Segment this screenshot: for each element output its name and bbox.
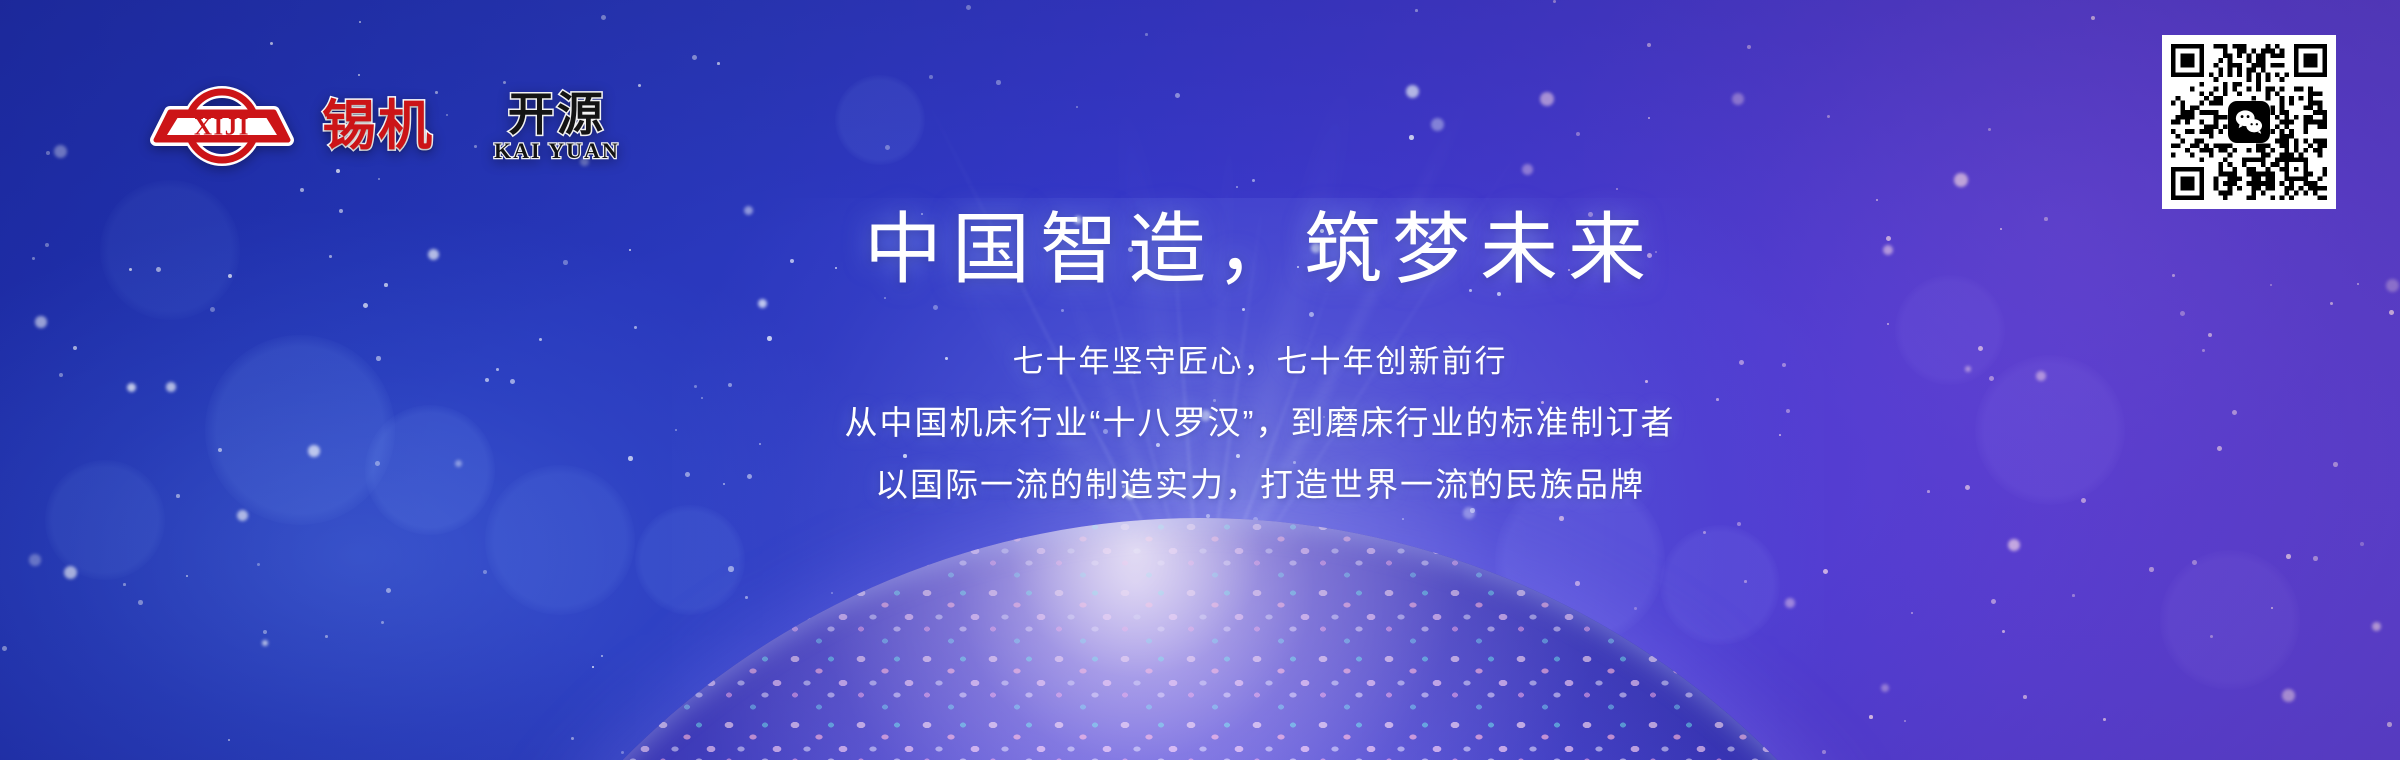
wechat-qr-code[interactable] [2162, 35, 2336, 209]
sub-brand-cn: 开源 [494, 91, 620, 137]
subtitle-line-3: 以国际一流的制造实力，打造世界一流的民族品牌 [120, 468, 2400, 501]
subtitle-line-1: 七十年坚守匠心，七十年创新前行 [120, 346, 2400, 377]
brand-name-cn: 锡机 [322, 99, 434, 153]
xiji-badge-icon: XIJI [148, 84, 296, 168]
banner-copy: 中国智造，筑梦未来 七十年坚守匠心，七十年创新前行 从中国机床行业“十八罗汉”，… [0, 208, 2400, 501]
sub-brand-lockup: 开源 KAI YUAN [494, 91, 620, 162]
promotional-banner: XIJI 锡机 开源 KAI YUAN 中国智造，筑梦未来 七十年坚守匠心，七十… [0, 0, 2400, 760]
xiji-badge-text: XIJI [194, 114, 250, 141]
subtitle-line-2: 从中国机床行业“十八罗汉”，到磨床行业的标准制订者 [120, 406, 2400, 439]
headline: 中国智造，筑梦未来 [120, 208, 2400, 294]
subtitle-block: 七十年坚守匠心，七十年创新前行 从中国机床行业“十八罗汉”，到磨床行业的标准制订… [120, 346, 2400, 501]
company-logo[interactable]: XIJI 锡机 开源 KAI YUAN [148, 84, 620, 168]
dotted-globe [0, 500, 2400, 760]
wechat-icon [2228, 101, 2270, 143]
sub-brand-en: KAI YUAN [494, 140, 620, 162]
